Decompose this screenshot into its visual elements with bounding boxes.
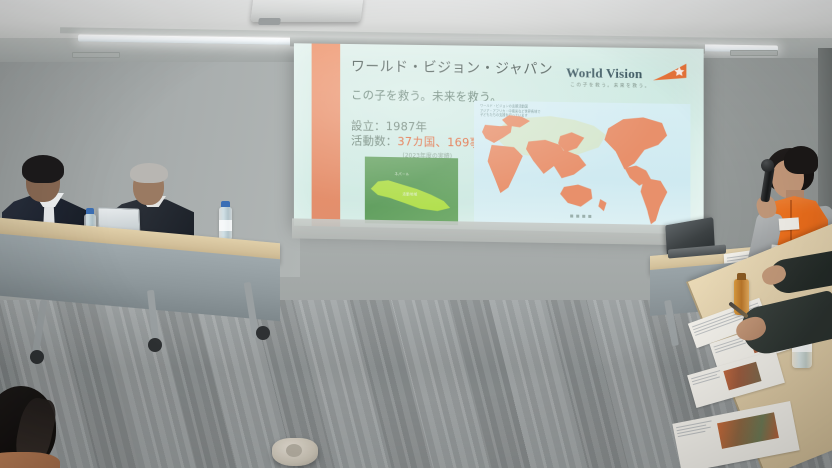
ceiling-vent [730, 50, 778, 56]
world-vision-flag-icon [653, 63, 687, 84]
table-caster [256, 326, 270, 340]
slide-title: ワールド・ビジョン・ジャパン [351, 56, 553, 79]
country-southeast-asia [552, 150, 586, 179]
fact-label: 活動数： [351, 133, 397, 148]
projector-lens-icon [258, 18, 281, 25]
slide-accent-bar [312, 43, 341, 226]
world-map: ワールド・ビジョンの支援活動国 アジア・アフリカ・中南米など世界各地で 子どもた… [474, 101, 690, 233]
inset-map-label: 活動地域 [402, 191, 417, 196]
shoulder [0, 452, 60, 468]
presentation-slide: ワールド・ビジョン・ジャパン この子を救う。未来を救う。 設立：1987年 活動… [294, 43, 704, 234]
map-legend-dots [570, 215, 591, 218]
gray-hair [130, 163, 168, 183]
table-caster [30, 350, 44, 364]
table-caster [148, 338, 162, 352]
country-australia [560, 184, 592, 207]
hair-front [784, 146, 818, 174]
seminar-room-scene: ワールド・ビジョン・ジャパン この子を救う。未来を救う。 設立：1987年 活動… [0, 0, 832, 468]
inset-map-label: ネパール [395, 171, 410, 176]
fact-row-activities: 活動数：37カ国、169事業 [351, 133, 493, 150]
bottle-label [219, 220, 232, 231]
water-bottle[interactable] [219, 207, 232, 241]
fact-label: 設立： [351, 119, 386, 134]
logo-subtitle: この子を救う。未来を救う。 [570, 82, 651, 89]
ceiling-projector [250, 0, 363, 22]
name-badge [779, 217, 800, 230]
world-vision-logo: World Vision この子を救う。未来を救う。 [566, 63, 685, 95]
ceiling-vent [72, 52, 120, 58]
bottle-cap [221, 201, 230, 207]
logo-wordmark: World Vision [566, 65, 642, 82]
fact-value: 1987年 [386, 119, 427, 134]
inset-region-map: ネパール 活動地域 [365, 157, 458, 226]
slide-facts: 設立：1987年 活動数：37カ国、169事業 (2023年度の実績) [351, 119, 493, 161]
floor-cable-cover [272, 438, 318, 466]
country-new-zealand [598, 199, 607, 211]
hair [22, 155, 64, 183]
projection-screen: ワールド・ビジョン・ジャパン この子を救う。未来を救う。 設立：1987年 活動… [294, 43, 704, 234]
country-north-america [604, 117, 667, 170]
bottle-cap [86, 208, 94, 214]
country-south-america [639, 178, 669, 225]
